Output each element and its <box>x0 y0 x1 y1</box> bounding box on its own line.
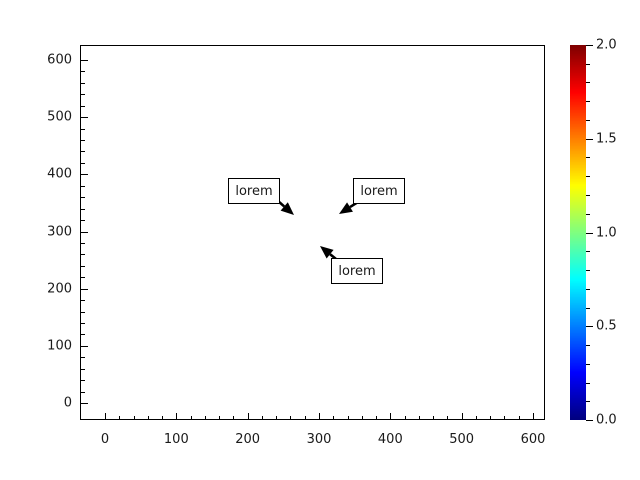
annotation-label-2: lorem <box>353 178 405 204</box>
y-tick-label: 400 <box>22 167 72 182</box>
annotation-label-1: lorem <box>228 178 280 204</box>
x-tick-label: 500 <box>449 432 474 447</box>
y-tick-minor <box>81 140 85 141</box>
x-tick-minor <box>305 416 306 420</box>
y-tick-minor <box>81 312 85 313</box>
x-tick-minor <box>490 416 491 420</box>
colorbar-tick-major <box>586 45 593 46</box>
y-tick-minor <box>81 106 85 107</box>
colorbar-tick-minor <box>586 308 590 309</box>
y-tick-major <box>81 60 88 61</box>
x-tick-minor <box>433 416 434 420</box>
colorbar-tick-minor <box>586 120 590 121</box>
y-tick-minor <box>81 266 85 267</box>
colorbar-tick-minor <box>586 345 590 346</box>
x-tick-major <box>105 413 106 420</box>
x-tick-label: 600 <box>521 432 546 447</box>
colorbar-tick-minor <box>586 364 590 365</box>
y-tick-minor <box>81 151 85 152</box>
x-tick-minor <box>419 416 420 420</box>
x-tick-minor <box>119 416 120 420</box>
colorbar-tick-minor <box>586 82 590 83</box>
x-tick-major <box>319 413 320 420</box>
y-tick-label: 600 <box>22 53 72 68</box>
colorbar-tick-major <box>586 139 593 140</box>
y-tick-major <box>81 174 88 175</box>
colorbar-tick-label: 1.5 <box>596 131 617 146</box>
x-tick-minor <box>362 416 363 420</box>
colorbar-tick-label: 1.0 <box>596 225 617 240</box>
colorbar-tick-label: 0.5 <box>596 319 617 334</box>
y-tick-minor <box>81 277 85 278</box>
y-tick-minor <box>81 323 85 324</box>
annotation-label-3: lorem <box>331 258 383 284</box>
colorbar-tick-minor <box>586 270 590 271</box>
x-tick-minor <box>233 416 234 420</box>
colorbar-tick-minor <box>586 195 590 196</box>
colorbar-tick-minor <box>586 64 590 65</box>
y-tick-label: 300 <box>22 224 72 239</box>
figure-canvas: 01002003004005006000100200300400500600 0… <box>0 0 640 480</box>
x-tick-minor <box>333 416 334 420</box>
x-tick-minor <box>276 416 277 420</box>
x-tick-minor <box>134 416 135 420</box>
plot-axes-frame <box>80 45 545 420</box>
y-tick-minor <box>81 300 85 301</box>
y-tick-label: 500 <box>22 110 72 125</box>
y-tick-minor <box>81 243 85 244</box>
colorbar-tick-label: 0.0 <box>596 413 617 428</box>
x-tick-label: 400 <box>378 432 403 447</box>
y-tick-major <box>81 117 88 118</box>
y-tick-minor <box>81 163 85 164</box>
y-tick-minor <box>81 220 85 221</box>
y-tick-major <box>81 346 88 347</box>
x-tick-minor <box>148 416 149 420</box>
y-tick-minor <box>81 186 85 187</box>
colorbar-tick-minor <box>586 176 590 177</box>
y-tick-label: 200 <box>22 281 72 296</box>
y-tick-major <box>81 403 88 404</box>
y-tick-major <box>81 289 88 290</box>
x-tick-major <box>390 413 391 420</box>
y-tick-minor <box>81 197 85 198</box>
x-tick-minor <box>162 416 163 420</box>
y-tick-minor <box>81 369 85 370</box>
x-tick-minor <box>519 416 520 420</box>
x-tick-minor <box>205 416 206 420</box>
x-tick-minor <box>262 416 263 420</box>
colorbar-tick-major <box>586 233 593 234</box>
y-tick-minor <box>81 380 85 381</box>
colorbar-tick-major <box>586 326 593 327</box>
x-tick-minor <box>191 416 192 420</box>
colorbar-tick-major <box>586 420 593 421</box>
y-tick-minor <box>81 334 85 335</box>
colorbar-tick-minor <box>586 401 590 402</box>
x-tick-minor <box>476 416 477 420</box>
x-tick-minor <box>504 416 505 420</box>
x-tick-minor <box>219 416 220 420</box>
x-tick-minor <box>447 416 448 420</box>
x-tick-minor <box>348 416 349 420</box>
y-tick-minor <box>81 357 85 358</box>
y-tick-label: 0 <box>22 396 72 411</box>
colorbar-gradient <box>570 45 586 420</box>
y-tick-minor <box>81 94 85 95</box>
y-tick-minor <box>81 129 85 130</box>
y-tick-major <box>81 232 88 233</box>
colorbar-tick-minor <box>586 157 590 158</box>
y-tick-minor <box>81 392 85 393</box>
x-tick-label: 200 <box>235 432 260 447</box>
colorbar-tick-minor <box>586 214 590 215</box>
x-tick-label: 100 <box>164 432 189 447</box>
colorbar <box>570 45 586 420</box>
x-tick-label: 0 <box>101 432 109 447</box>
x-tick-major <box>533 413 534 420</box>
x-tick-major <box>248 413 249 420</box>
x-tick-minor <box>376 416 377 420</box>
y-tick-minor <box>81 254 85 255</box>
x-tick-major <box>462 413 463 420</box>
y-tick-minor <box>81 71 85 72</box>
colorbar-tick-minor <box>586 101 590 102</box>
x-tick-minor <box>405 416 406 420</box>
y-tick-minor <box>81 83 85 84</box>
y-tick-minor <box>81 209 85 210</box>
x-tick-major <box>176 413 177 420</box>
y-tick-label: 100 <box>22 338 72 353</box>
colorbar-tick-label: 2.0 <box>596 38 617 53</box>
x-tick-label: 300 <box>307 432 332 447</box>
colorbar-tick-minor <box>586 383 590 384</box>
colorbar-tick-minor <box>586 251 590 252</box>
x-tick-minor <box>290 416 291 420</box>
colorbar-tick-minor <box>586 289 590 290</box>
